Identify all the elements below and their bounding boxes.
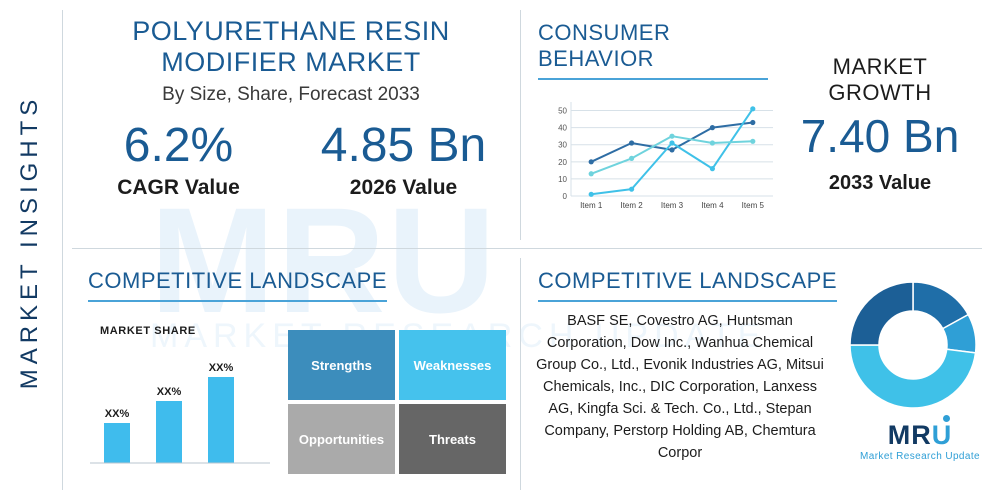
competitive-donut-chart xyxy=(848,280,978,410)
market-share-bar-chart: XX%XX%XX% xyxy=(90,335,270,470)
competitive-landscape-left-heading: COMPETITIVE LANDSCAPE xyxy=(88,268,387,302)
swot-matrix: Strengths Weaknesses Opportunities Threa… xyxy=(288,330,506,474)
svg-text:20: 20 xyxy=(558,158,567,167)
svg-text:40: 40 xyxy=(558,124,567,133)
divider-top-center-vertical xyxy=(520,10,521,240)
line-chart-series xyxy=(589,106,756,197)
divider-bottom-center-vertical xyxy=(520,258,521,490)
donut-slices xyxy=(850,282,976,408)
competitive-landscape-right-heading: COMPETITIVE LANDSCAPE xyxy=(538,268,837,302)
svg-text:XX%: XX% xyxy=(157,386,182,398)
page-subtitle: By Size, Share, Forecast 2033 xyxy=(66,84,516,106)
title-block: POLYURETHANE RESIN MODIFIER MARKET By Si… xyxy=(66,16,516,106)
consumer-behavior-header: CONSUMER BEHAVIOR xyxy=(538,20,768,80)
kpi-cagr-label: CAGR Value xyxy=(66,176,291,200)
brand-logo: MRU Market Research Update xyxy=(858,420,982,462)
company-list: BASF SE, Covestro AG, Huntsman Corporati… xyxy=(530,310,830,464)
swot-cell-opportunities[interactable]: Opportunities xyxy=(288,404,395,474)
swot-cell-strengths[interactable]: Strengths xyxy=(288,330,395,400)
market-insights-sidebar: MARKET INSIGHTS xyxy=(0,0,62,500)
swot-label-weaknesses: Weaknesses xyxy=(414,358,492,373)
svg-text:Item 3: Item 3 xyxy=(661,201,684,210)
divider-left-vertical xyxy=(62,10,63,490)
logo-mark: MRU xyxy=(888,420,953,450)
market-growth-heading: MARKET GROWTH xyxy=(780,54,980,106)
kpi-cagr-value: 6.2% xyxy=(66,118,291,174)
svg-text:XX%: XX% xyxy=(209,362,234,374)
page-title: POLYURETHANE RESIN MODIFIER MARKET xyxy=(66,16,516,78)
logo-mark-primary: MR xyxy=(888,420,932,450)
swot-label-threats: Threats xyxy=(429,432,476,447)
svg-text:10: 10 xyxy=(558,175,567,184)
line-chart-x-tick-labels: Item 1Item 2Item 3Item 4Item 5 xyxy=(580,201,764,210)
kpi-cagr: 6.2% CAGR Value xyxy=(66,118,291,200)
svg-text:Item 4: Item 4 xyxy=(701,201,724,210)
consumer-behavior-line-chart: 01020304050 Item 1Item 2Item 3Item 4Item… xyxy=(545,96,775,221)
market-growth-label: 2033 Value xyxy=(780,172,980,195)
svg-text:0: 0 xyxy=(563,192,568,201)
svg-text:Item 1: Item 1 xyxy=(580,201,603,210)
swot-label-strengths: Strengths xyxy=(311,358,372,373)
svg-text:30: 30 xyxy=(558,141,567,150)
svg-text:Item 5: Item 5 xyxy=(742,201,765,210)
svg-text:XX%: XX% xyxy=(105,408,130,420)
competitive-landscape-left-header: COMPETITIVE LANDSCAPE xyxy=(88,268,387,302)
line-chart-y-tick-labels: 01020304050 xyxy=(558,107,567,201)
consumer-behavior-heading: CONSUMER BEHAVIOR xyxy=(538,20,768,80)
kpi-2026-label: 2026 Value xyxy=(291,176,516,200)
market-insights-label: MARKET INSIGHTS xyxy=(16,22,44,462)
logo-mark-accent: U xyxy=(932,420,953,450)
svg-text:50: 50 xyxy=(558,107,567,116)
svg-text:Item 2: Item 2 xyxy=(620,201,643,210)
competitive-landscape-right-header: COMPETITIVE LANDSCAPE xyxy=(538,268,837,302)
kpi-row: 6.2% CAGR Value 4.85 Bn 2026 Value xyxy=(66,118,516,200)
swot-cell-weaknesses[interactable]: Weaknesses xyxy=(399,330,506,400)
logo-subtitle: Market Research Update xyxy=(858,451,982,462)
swot-cell-threats[interactable]: Threats xyxy=(399,404,506,474)
divider-horizontal xyxy=(72,248,982,249)
kpi-2026: 4.85 Bn 2026 Value xyxy=(291,118,516,200)
swot-label-opportunities: Opportunities xyxy=(299,432,384,447)
kpi-2026-value: 4.85 Bn xyxy=(291,118,516,174)
infographic-canvas: MRU MARKET RESEARCH UPDATE MARKET INSIGH… xyxy=(0,0,1000,500)
market-growth-value: 7.40 Bn xyxy=(780,108,980,164)
